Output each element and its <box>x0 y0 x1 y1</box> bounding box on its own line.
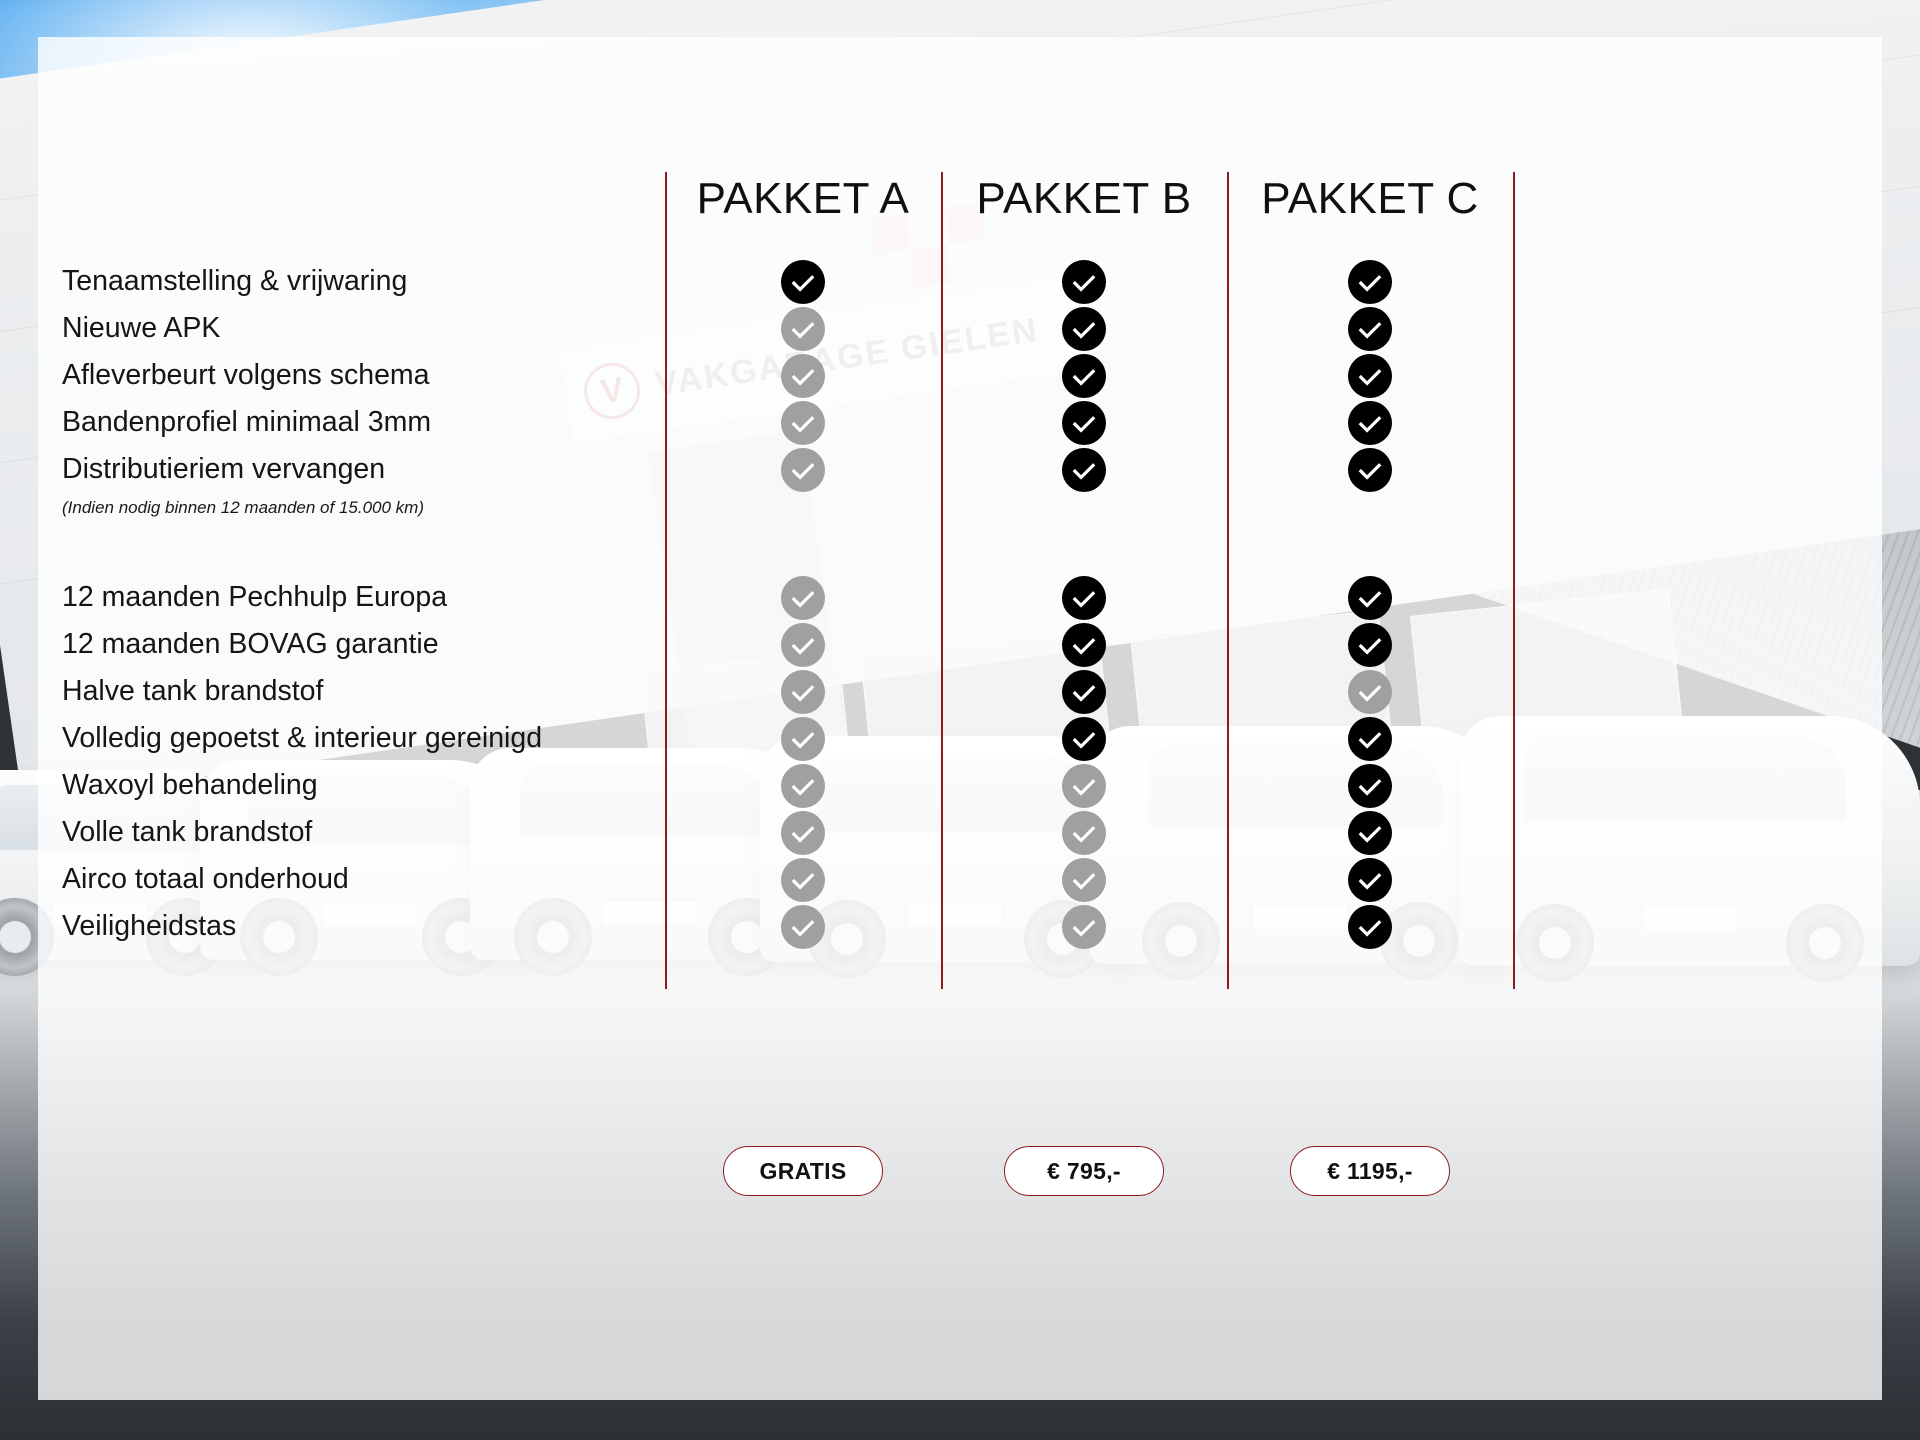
check-icon-b-row12 <box>1062 858 1106 902</box>
check-icon-c-row11 <box>1348 811 1392 855</box>
check-icon-a-row2 <box>781 307 825 351</box>
price-button-c[interactable]: € 1195,- <box>1290 1146 1450 1196</box>
check-icon-a-row7 <box>781 623 825 667</box>
check-icon-a-row8 <box>781 670 825 714</box>
feature-label: Veiligheidstas <box>62 903 702 950</box>
check-icon-b-row10 <box>1062 764 1106 808</box>
column-header-b: PAKKET B <box>941 174 1227 224</box>
check-icon-c-row8 <box>1348 670 1392 714</box>
price-button-b[interactable]: € 795,- <box>1004 1146 1164 1196</box>
check-icon-a-row5 <box>781 448 825 492</box>
check-icon-a-row9 <box>781 717 825 761</box>
check-icon-a-row10 <box>781 764 825 808</box>
column-divider-3 <box>1227 172 1229 989</box>
check-icon-c-row3 <box>1348 354 1392 398</box>
check-icon-b-row2 <box>1062 307 1106 351</box>
check-icon-c-row10 <box>1348 764 1392 808</box>
feature-label: Airco totaal onderhoud <box>62 856 702 903</box>
feature-label-list: Tenaamstelling & vrijwaringNieuwe APKAfl… <box>62 258 702 950</box>
feature-label: Afleverbeurt volgens schema <box>62 352 702 399</box>
feature-label: Distributieriem vervangen <box>62 446 702 493</box>
feature-label: Volle tank brandstof <box>62 809 702 856</box>
check-icon-c-row12 <box>1348 858 1392 902</box>
check-icon-c-row1 <box>1348 260 1392 304</box>
feature-label: Nieuwe APK <box>62 305 702 352</box>
check-icon-a-row6 <box>781 576 825 620</box>
feature-label: 12 maanden Pechhulp Europa <box>62 574 702 621</box>
feature-note: (Indien nodig binnen 12 maanden of 15.00… <box>62 493 702 527</box>
column-header-a: PAKKET A <box>665 174 941 224</box>
check-icon-c-row2 <box>1348 307 1392 351</box>
check-icon-b-row3 <box>1062 354 1106 398</box>
feature-label: Tenaamstelling & vrijwaring <box>62 258 702 305</box>
check-icon-a-row13 <box>781 905 825 949</box>
check-icon-a-row4 <box>781 401 825 445</box>
group-separator <box>62 527 702 574</box>
check-icon-a-row3 <box>781 354 825 398</box>
column-divider-4 <box>1513 172 1515 989</box>
check-icon-c-row7 <box>1348 623 1392 667</box>
check-icon-b-row13 <box>1062 905 1106 949</box>
feature-label: Bandenprofiel minimaal 3mm <box>62 399 702 446</box>
check-icon-b-row4 <box>1062 401 1106 445</box>
price-button-a[interactable]: GRATIS <box>723 1146 883 1196</box>
feature-label: Volledig gepoetst & interieur gereinigd <box>62 715 702 762</box>
column-divider-1 <box>665 172 667 989</box>
check-icon-b-row8 <box>1062 670 1106 714</box>
column-divider-2 <box>941 172 943 989</box>
check-icon-b-row7 <box>1062 623 1106 667</box>
feature-label: Halve tank brandstof <box>62 668 702 715</box>
check-icon-b-row1 <box>1062 260 1106 304</box>
check-icon-b-row6 <box>1062 576 1106 620</box>
package-comparison-table: Tenaamstelling & vrijwaringNieuwe APKAfl… <box>0 0 1920 1440</box>
check-icon-c-row9 <box>1348 717 1392 761</box>
feature-label: Waxoyl behandeling <box>62 762 702 809</box>
check-icon-c-row5 <box>1348 448 1392 492</box>
check-icon-b-row9 <box>1062 717 1106 761</box>
check-icon-a-row1 <box>781 260 825 304</box>
check-icon-c-row6 <box>1348 576 1392 620</box>
check-icon-c-row13 <box>1348 905 1392 949</box>
check-icon-a-row12 <box>781 858 825 902</box>
check-icon-a-row11 <box>781 811 825 855</box>
check-icon-b-row5 <box>1062 448 1106 492</box>
column-header-c: PAKKET C <box>1227 174 1513 224</box>
feature-label: 12 maanden BOVAG garantie <box>62 621 702 668</box>
package-columns: PAKKET AGRATISPAKKET B€ 795,-PAKKET C€ 1… <box>665 0 1845 1440</box>
check-icon-b-row11 <box>1062 811 1106 855</box>
check-icon-c-row4 <box>1348 401 1392 445</box>
